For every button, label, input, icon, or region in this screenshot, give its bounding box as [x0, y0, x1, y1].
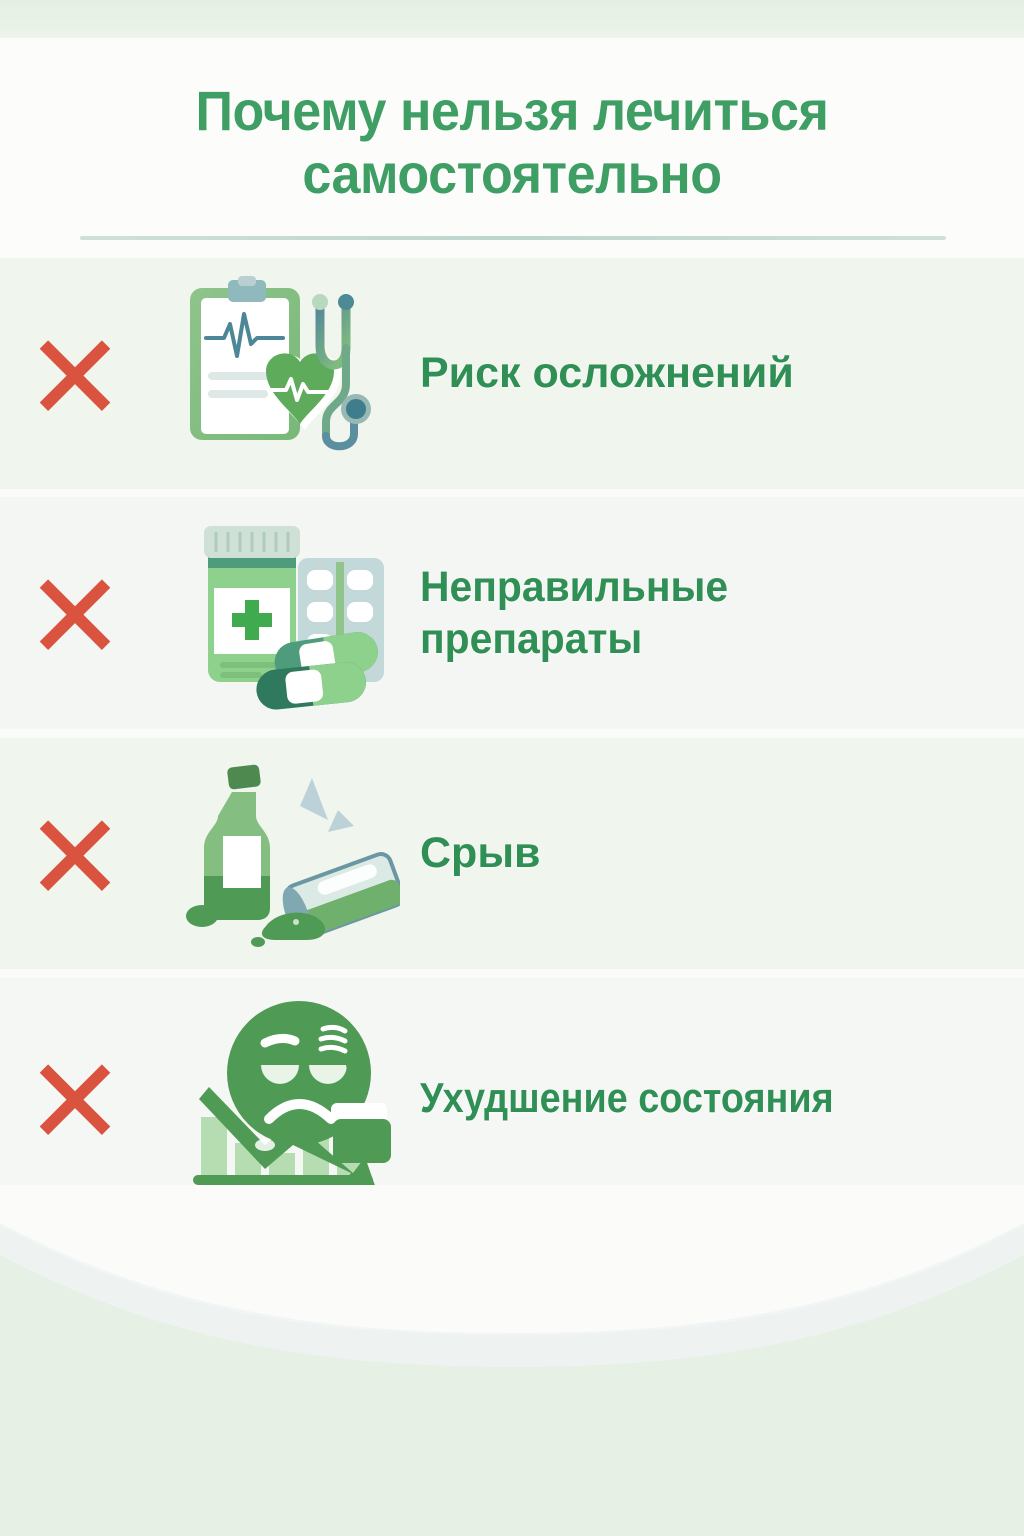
row-1-icon-cell [150, 276, 420, 471]
top-accent-band [0, 0, 1024, 38]
clipboard-heart-stethoscope-icon [170, 276, 400, 471]
page-title-line-2: самостоятельно [92, 143, 933, 206]
list-item: Риск осложнений [0, 258, 1024, 489]
row-4-icon-cell [150, 995, 420, 1200]
row-1-cross-cell [0, 332, 150, 416]
list-item: Неправильные препараты [0, 497, 1024, 729]
row-3-label-cell: Срыв [420, 827, 1024, 879]
list-item: Срыв [0, 738, 1024, 969]
sad-face-declining-chart-icon [169, 995, 401, 1200]
infographic-page: Почему нельзя лечиться самостоятельно [0, 0, 1024, 1536]
list-item-label: Срыв [420, 827, 984, 879]
list-item-label: Ухудшение состояния [420, 1072, 928, 1123]
row-2-cross-cell [0, 571, 150, 655]
list-item: Ухудшение состояния [0, 978, 1024, 1217]
row-3-icon-cell [150, 756, 420, 951]
bottom-wave-shape [0, 1185, 1024, 1536]
row-2-icon-cell [150, 516, 420, 711]
row-1-label-cell: Риск осложнений [420, 347, 1024, 399]
list-item-label: Неправильные препараты [420, 561, 956, 666]
red-cross-icon [33, 332, 117, 416]
row-4-cross-cell [0, 1056, 150, 1140]
pill-bottle-blister-capsules-icon [170, 516, 400, 711]
page-title-line-1: Почему нельзя лечиться [92, 80, 933, 143]
red-cross-icon [33, 571, 117, 655]
bottle-spilled-glass-icon [170, 756, 400, 951]
red-cross-icon [33, 1056, 117, 1140]
page-title: Почему нельзя лечиться самостоятельно [92, 80, 933, 205]
header-divider [80, 236, 946, 240]
row-2-label-cell: Неправильные препараты [420, 561, 1024, 666]
list-item-label-line-1: Неправильные [420, 561, 956, 613]
header: Почему нельзя лечиться самостоятельно [0, 38, 1024, 258]
list-item-label: Риск осложнений [420, 347, 984, 399]
red-cross-icon [33, 812, 117, 896]
row-3-cross-cell [0, 812, 150, 896]
row-4-label-cell: Ухудшение состояния [420, 1072, 1024, 1123]
bottom-wave [0, 1185, 1024, 1536]
list-item-label-line-2: препараты [420, 613, 956, 665]
